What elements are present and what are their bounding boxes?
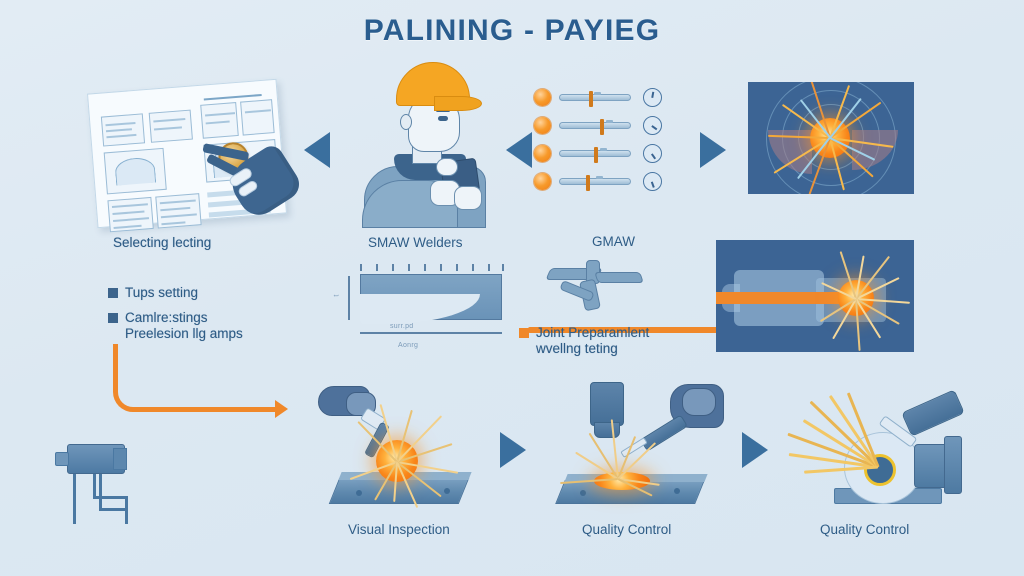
- stage-label-smaw: SMAW Welders: [368, 235, 463, 250]
- page-title: PALINING - PAYIEG: [0, 14, 1024, 48]
- blueprint-document-icon: [87, 79, 287, 228]
- arrow-right-bottom-1: [500, 432, 526, 468]
- clock-icon: [643, 144, 662, 163]
- bullet-label-joint: Joint Preparamlent: [536, 325, 649, 340]
- grinder-icon: [792, 392, 978, 514]
- arrow-right-bottom-2: [742, 432, 768, 468]
- slider-track[interactable]: [559, 94, 631, 101]
- stage-label-visual-inspection: Visual Inspection: [348, 522, 450, 537]
- orange-dot-icon: [534, 117, 551, 134]
- orange-elbow-connector: [113, 344, 135, 412]
- orange-dot-icon: [534, 145, 551, 162]
- bullet-sublabel-joint: wvellng teting: [536, 341, 618, 356]
- checklist-row[interactable]: [534, 88, 662, 106]
- welding-power-supply-icon: [55, 444, 165, 524]
- clamp-fixture-icon: [548, 258, 666, 316]
- arrow-right-top-1: [700, 132, 726, 168]
- radial-spark-panel: [748, 82, 914, 194]
- stage-label-selecting: Selecting lecting: [113, 235, 211, 250]
- stage-label-gmaw: GMAW: [592, 234, 635, 249]
- bullet-label-settings: Camlre:stings: [125, 310, 208, 325]
- stage-label-quality-control-2: Quality Control: [820, 522, 909, 537]
- settings-checklist-icon: [534, 88, 662, 192]
- orange-arrow-head: [275, 400, 288, 418]
- cross-section-caption: surr.pd: [390, 323, 414, 330]
- stage-label-quality-control-1: Quality Control: [582, 522, 671, 537]
- torch-sparks-icon: [546, 378, 732, 513]
- bullet-square-icon: [108, 313, 118, 323]
- torch-welding-icon: [314, 378, 492, 513]
- slider-track[interactable]: [559, 122, 631, 129]
- orange-dot-icon: [534, 89, 551, 106]
- checklist-row[interactable]: [534, 172, 662, 190]
- bullet-sublabel-settings: Preelesion llg amps: [125, 326, 243, 341]
- checklist-row[interactable]: [534, 144, 662, 162]
- clock-icon: [643, 172, 662, 191]
- slider-handle[interactable]: [594, 147, 598, 163]
- bullet-square-icon: [108, 288, 118, 298]
- orange-connector-line: [132, 407, 277, 412]
- bullet-label-tips: Tups setting: [125, 285, 198, 300]
- slider-track[interactable]: [559, 178, 631, 185]
- cross-section-diagram: t surr.pd Aonrg: [330, 270, 530, 362]
- welder-worker-icon: [356, 62, 498, 227]
- bullet-square-orange-icon: [519, 328, 529, 338]
- welding-spark-panel: [716, 240, 914, 352]
- arrow-left-top-1: [304, 132, 330, 168]
- slider-handle[interactable]: [586, 175, 590, 191]
- thickness-label: t: [334, 294, 341, 296]
- slider-handle[interactable]: [600, 119, 604, 135]
- clock-icon: [643, 116, 662, 135]
- orange-dot-icon: [534, 173, 551, 190]
- ruler-caption: Aonrg: [398, 342, 418, 349]
- checklist-row[interactable]: [534, 116, 662, 134]
- infographic-canvas: PALINING - PAYIEG: [0, 0, 1024, 576]
- arrow-left-top-2: [506, 132, 532, 168]
- clock-icon: [643, 88, 662, 107]
- slider-handle[interactable]: [589, 91, 593, 107]
